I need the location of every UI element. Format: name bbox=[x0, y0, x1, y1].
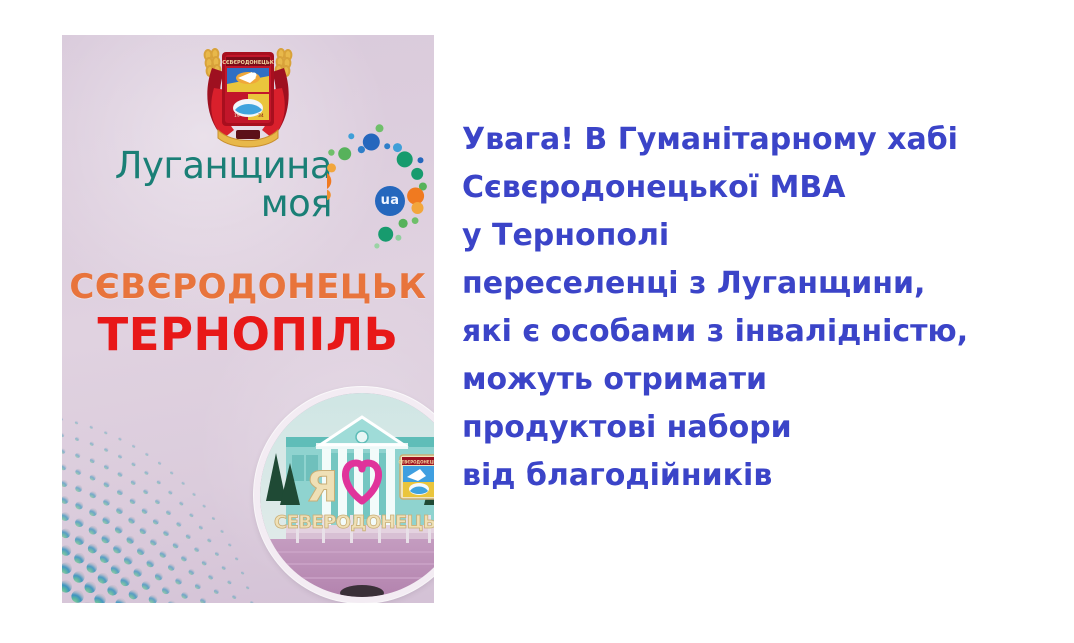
announcement-text: Увага! В Гуманітарному хабіСєвєродонецьк… bbox=[462, 116, 1042, 500]
city-photo-illustration: Я СЄВЄРОДОНЕЦЬК СЕВЕРОДОНЕЦЬК bbox=[260, 393, 434, 597]
sign-letter: Я bbox=[306, 462, 338, 511]
announcement-line: продуктові набори bbox=[462, 404, 1042, 452]
announcement-line: від благодійників bbox=[462, 452, 1042, 500]
brand-line-2: моя bbox=[102, 186, 332, 222]
city-name-host: ТЕРНОПІЛЬ bbox=[62, 308, 434, 361]
poster-title-block: СЄВЄРОДОНЕЦЬК ТЕРНОПІЛЬ bbox=[62, 267, 434, 361]
announcement-line: у Тернополі bbox=[462, 212, 1042, 260]
brand-wordmark: Луганщина моя bbox=[102, 148, 332, 221]
city-photo-frame: Я СЄВЄРОДОНЕЦЬК СЕВЕРОДОНЕЦЬК bbox=[254, 387, 434, 603]
city-name-origin: СЄВЄРОДОНЕЦЬК bbox=[62, 267, 434, 307]
announcement-page: СЄВЄРОДОНЕЦЬК 19 34 Луганщина моя bbox=[0, 0, 1074, 643]
announcement-line: Увага! В Гуманітарному хабі bbox=[462, 116, 1042, 164]
arms-year-left: 19 bbox=[234, 113, 240, 119]
arms-banner-text: СЄВЄРОДОНЕЦЬК bbox=[222, 60, 274, 66]
city-photo: Я СЄВЄРОДОНЕЦЬК СЕВЕРОДОНЕЦЬК bbox=[260, 393, 434, 597]
ua-badge: ua bbox=[375, 186, 405, 216]
brand-line-1: Луганщина bbox=[102, 148, 332, 184]
announcement-line: переселенці з Луганщини, bbox=[462, 260, 1042, 308]
poster-image: СЄВЄРОДОНЕЦЬК 19 34 Луганщина моя bbox=[62, 35, 434, 603]
announcement-line: які є особами з інвалідністю, bbox=[462, 308, 1042, 356]
announcement-line: Сєвєродонецької МВА bbox=[462, 164, 1042, 212]
arms-year-right: 34 bbox=[258, 113, 264, 119]
coat-of-arms-icon: СЄВЄРОДОНЕЦЬК 19 34 bbox=[194, 38, 302, 150]
sign-city-name: СЕВЕРОДОНЕЦЬК bbox=[274, 512, 434, 533]
announcement-line: можуть отримати bbox=[462, 356, 1042, 404]
brand-dot-ring: ua bbox=[327, 120, 434, 260]
sign-crest-label: СЄВЄРОДОНЕЦЬК bbox=[398, 460, 434, 465]
